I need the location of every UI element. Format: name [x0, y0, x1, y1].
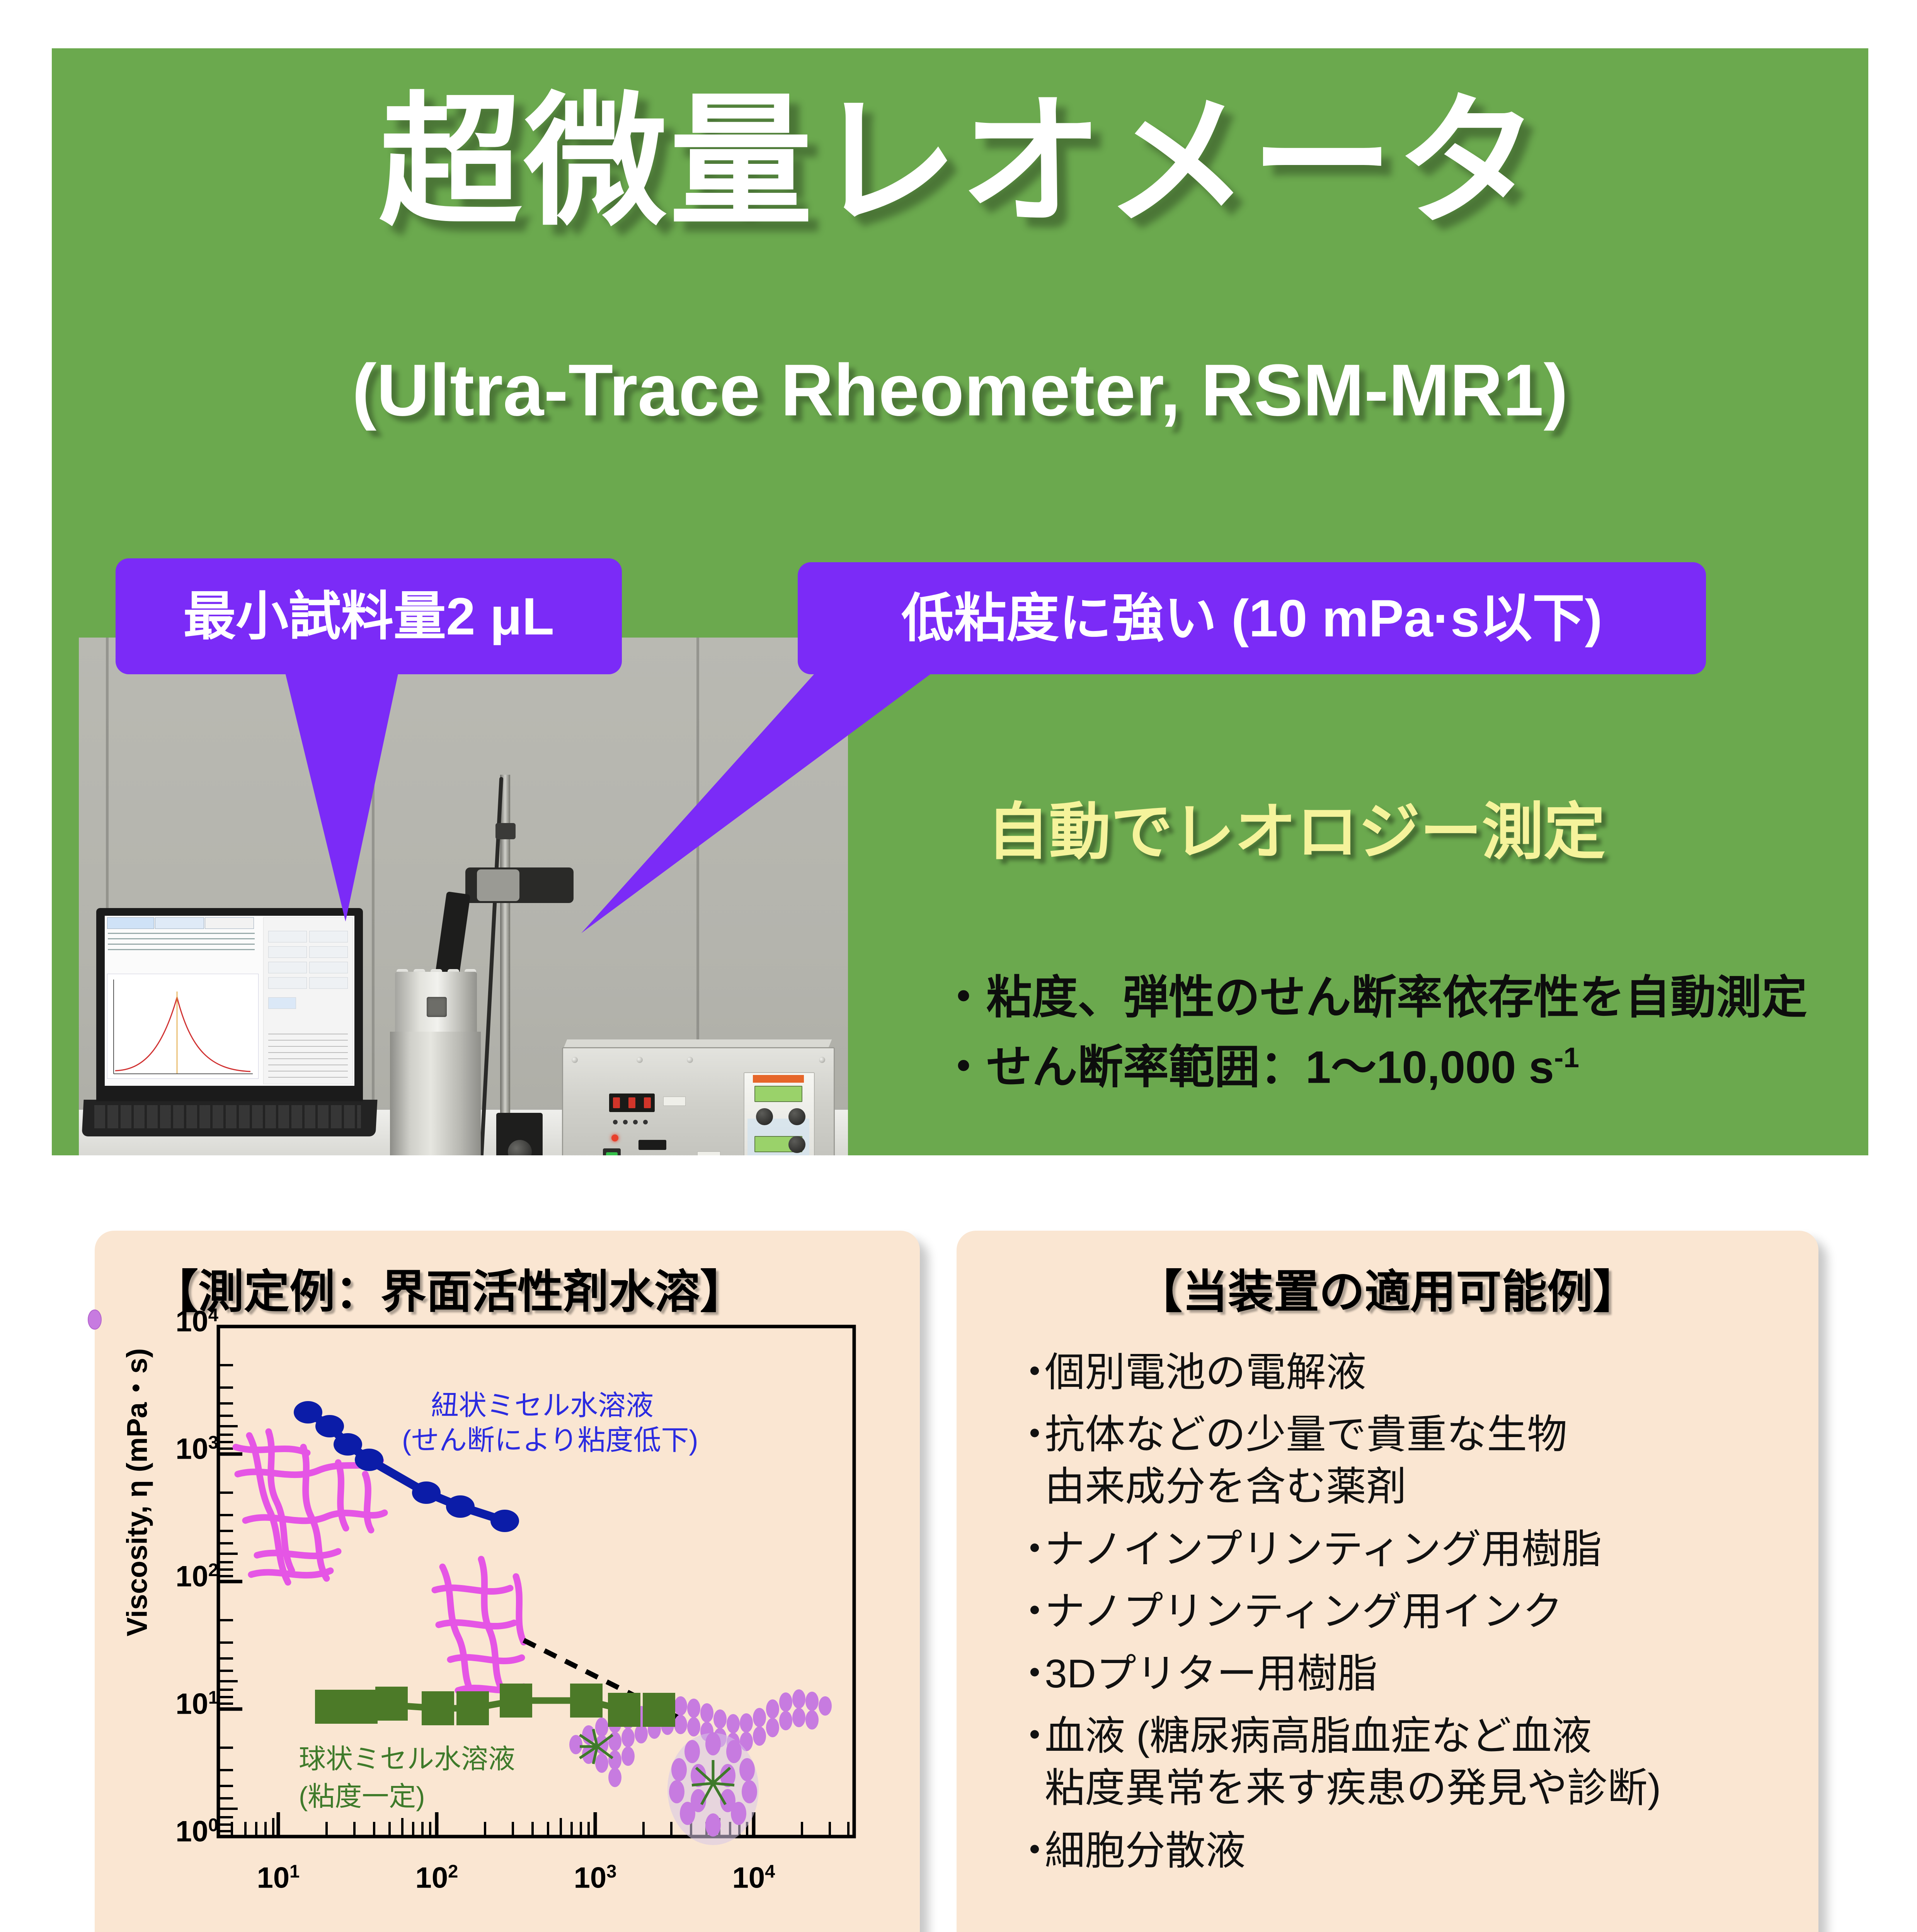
software-button — [268, 997, 296, 1009]
led-digit — [628, 1097, 635, 1108]
bullet-marker: ・ — [1015, 1825, 1045, 1877]
callout-low-viscosity: 低粘度に強い (10 mPa·s以下) — [798, 562, 1706, 674]
software-result-table — [268, 1034, 348, 1080]
list-item-line: 血液 (糖尿病高脂血症など血液 — [1045, 1710, 1661, 1762]
indicator-led — [643, 1120, 648, 1124]
list-item: ・ 血液 (糖尿病高脂血症など血液 粘度異常を来す疾患の発見や診断) — [1015, 1710, 1791, 1815]
applications-list: ・ 個別電池の電解液 ・ 抗体などの少量で貴重な生物 由来成分を含む薬剤 ・ ナ… — [1015, 1347, 1791, 1887]
header-feature-bullet-1: ・粘度、弾性のせん断率依存性を自動測定 — [941, 972, 1876, 1024]
software-measurement-plot — [107, 974, 259, 1079]
list-item-line: ナノインプリンティング用樹脂 — [1045, 1524, 1602, 1576]
chart-annotation-wormlike: 紐状ミセル水溶液 — [431, 1389, 654, 1422]
amplifier-display-top — [754, 1086, 802, 1102]
controller-screw — [637, 1057, 643, 1063]
list-item-text: 3Dプリター用樹脂 — [1045, 1648, 1377, 1700]
controller-screw — [819, 1057, 825, 1063]
controller-connector — [638, 1140, 666, 1150]
aligned-micelle-chain — [88, 1310, 101, 1329]
controller-label-plate — [697, 1151, 720, 1155]
list-item-line: 抗体などの少量で貴重な生物 — [1045, 1409, 1567, 1461]
controller-led-display — [609, 1094, 655, 1112]
chart-y-minor-ticks — [218, 1365, 242, 1831]
list-item: ・ 3Dプリター用樹脂 — [1015, 1648, 1791, 1700]
amplifier-knob[interactable] — [788, 1108, 805, 1125]
indicator-led — [633, 1120, 638, 1124]
bubble-tails — [52, 651, 1018, 945]
software-button — [309, 946, 348, 958]
list-item-line: ナノプリンティング用インク — [1045, 1586, 1563, 1638]
chart-annotation-wormlike-sub: (せん断により粘度低下) — [402, 1424, 698, 1457]
applications-card: 【当装置の適用可能例】 ・ 個別電池の電解液 ・ 抗体などの少量で貴重な生物 由… — [957, 1231, 1818, 1932]
measurement-head-window — [427, 997, 447, 1017]
list-item-text: ナノインプリンティング用樹脂 — [1045, 1524, 1602, 1576]
software-button — [309, 977, 348, 989]
chart-annotation-spherical-sub: (粘度一定) — [299, 1780, 425, 1813]
list-item-text: 個別電池の電解液 — [1045, 1347, 1366, 1399]
callout-min-sample-volume: 最小試料量2 μL — [116, 558, 622, 674]
list-item: ・ 細胞分散液 — [1015, 1825, 1791, 1877]
list-item-text: ナノプリンティング用インク — [1045, 1586, 1563, 1638]
software-button — [268, 962, 307, 973]
list-item-line: 粘度異常を来す疾患の発見や診断) — [1045, 1762, 1661, 1815]
header-yellow-heading: 自動でレオロジー測定 — [987, 798, 1857, 866]
indicator-led — [623, 1120, 628, 1124]
green-header-banner: 超微量レオメータ (Ultra-Trace Rheometer, RSM-MR1… — [52, 48, 1868, 1155]
header-feature-bullet-2-text: ・せん断率範囲：1〜10,000 s — [941, 1042, 1554, 1093]
header-feature-bullet-2-exponent: -1 — [1554, 1042, 1579, 1073]
applications-title: 【当装置の適用可能例】 — [957, 1255, 1818, 1321]
list-item: ・ 抗体などの少量で貴重な生物 由来成分を含む薬剤 — [1015, 1409, 1791, 1513]
software-button — [268, 977, 307, 989]
header-feature-bullet-2: ・せん断率範囲：1〜10,000 s-1 — [941, 1041, 1876, 1094]
bullet-marker: ・ — [1015, 1409, 1045, 1461]
controller-label-plate — [663, 1097, 686, 1106]
instrument-main-body — [390, 1032, 481, 1155]
list-item: ・ 個別電池の電解液 — [1015, 1347, 1791, 1399]
software-plot-curve — [107, 974, 258, 1078]
list-item-line: 由来成分を含む薬剤 — [1045, 1461, 1567, 1513]
list-item: ・ ナノプリンティング用インク — [1015, 1586, 1791, 1638]
amplifier-knob[interactable] — [788, 1136, 805, 1153]
led-digit — [644, 1097, 651, 1108]
bullet-marker: ・ — [1015, 1710, 1045, 1762]
software-button — [309, 962, 348, 973]
measurement-example-card: 【測定例：界面活性剤水溶】 Viscosity, η (mPa・s) Shear… — [95, 1231, 920, 1932]
list-item-text: 血液 (糖尿病高脂血症など血液 粘度異常を来す疾患の発見や診断) — [1045, 1710, 1661, 1815]
page-title-japanese: 超微量レオメータ — [52, 91, 1868, 234]
controller-screw — [687, 1057, 693, 1063]
list-item-line: 個別電池の電解液 — [1045, 1347, 1366, 1399]
software-button — [268, 946, 307, 958]
bullet-marker: ・ — [1015, 1524, 1045, 1576]
bullet-marker: ・ — [1015, 1586, 1045, 1638]
wormlike-micelle-network-sketch-2 — [435, 1559, 524, 1692]
amplifier-knob[interactable] — [756, 1108, 773, 1125]
page-title-english: (Ultra-Trace Rheometer, RSM-MR1) — [52, 354, 1868, 427]
list-item-line: 3Dプリター用樹脂 — [1045, 1648, 1377, 1700]
power-indicator-led — [611, 1134, 618, 1141]
indicator-led — [613, 1120, 618, 1124]
list-item-line: 細胞分散液 — [1045, 1825, 1246, 1877]
laptop-keyboard — [94, 1105, 361, 1128]
power-switch[interactable] — [603, 1148, 621, 1155]
list-item-text: 細胞分散液 — [1045, 1825, 1246, 1877]
measurement-example-title: 【測定例：界面活性剤水溶】 — [95, 1255, 920, 1321]
amplifier-brand-strip — [753, 1075, 804, 1083]
led-digit — [613, 1097, 620, 1108]
bullet-marker: ・ — [1015, 1347, 1045, 1399]
chart-x-minor-ticks — [232, 1812, 848, 1837]
list-item-text: 抗体などの少量で貴重な生物 由来成分を含む薬剤 — [1045, 1409, 1567, 1513]
list-item: ・ ナノインプリンティング用樹脂 — [1015, 1524, 1791, 1576]
controller-indicator-row — [613, 1120, 652, 1125]
controller-screw — [572, 1057, 578, 1063]
chart-annotation-spherical: 球状ミセル水溶液 — [299, 1743, 515, 1775]
viscosity-chart: Viscosity, η (mPa・s) Shear rate (1/s) 10… — [95, 1320, 920, 1932]
bullet-marker: ・ — [1015, 1648, 1045, 1700]
